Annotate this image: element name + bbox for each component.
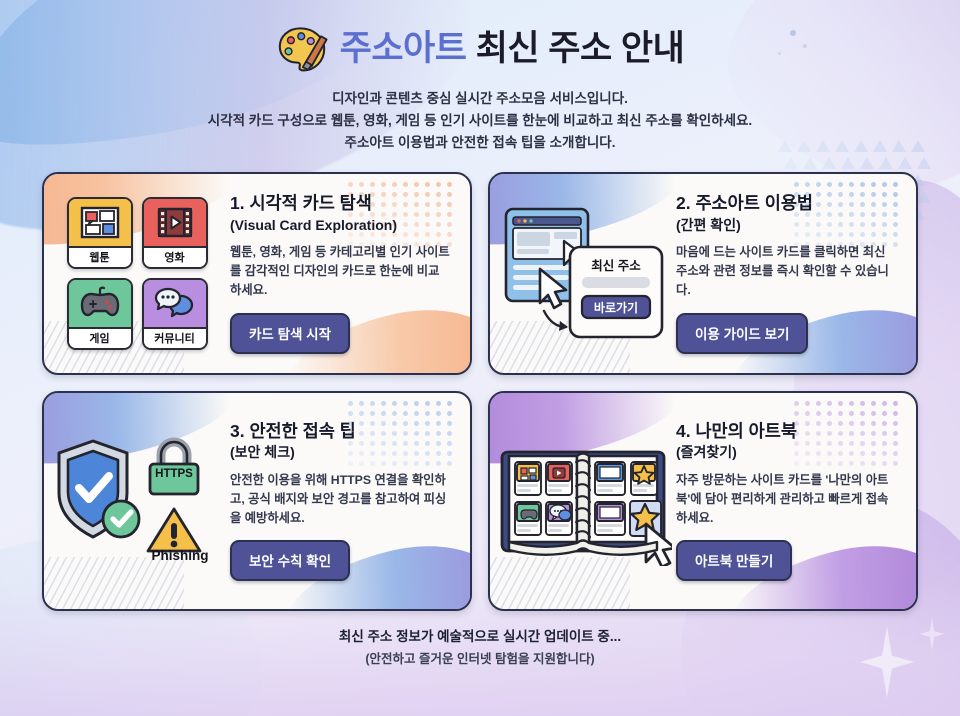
card-body: 4. 나만의 아트북 (즐겨찾기) 자주 방문하는 사이트 카드를 '나만의 아…: [676, 420, 916, 582]
chat-bubbles-icon: [144, 280, 206, 327]
webtoon-panels-icon: [69, 199, 131, 246]
feature-card-security-tips[interactable]: HTTPS Phishing 3. 안전한 접속 팁 (보안 체크) 안전한 이…: [42, 391, 472, 611]
card-action-button-security[interactable]: 보안 수칙 확인: [230, 540, 350, 581]
card-visual-artbook: [490, 436, 676, 566]
card-description: 안전한 이용을 위해 HTTPS 연결을 확인하고, 공식 배지와 보안 경고를…: [230, 471, 450, 528]
feature-card-how-to-use[interactable]: 최신 주소 바로가기 2. 주소아트 이용법 (간편 확인) 마음에 드는 사이…: [488, 172, 918, 375]
film-play-icon: [144, 199, 206, 246]
feature-card-visual-exploration[interactable]: 웹툰: [42, 172, 472, 375]
category-tile-grid: 웹툰: [67, 197, 208, 350]
popup-title: 최신 주소: [576, 255, 656, 274]
card-action-button-artbook[interactable]: 아트북 만들기: [676, 540, 792, 581]
card-description: 마음에 드는 사이트 카드를 클릭하면 최신 주소와 관련 정보를 즉시 확인할…: [676, 243, 896, 300]
card-title: 1. 시각적 카드 탐색: [230, 192, 450, 215]
page-header: 주소아트 최신 주소 안내 디자인과 콘텐츠 중심 실시간 주소모음 서비스입니…: [0, 0, 960, 154]
card-body: 3. 안전한 접속 팁 (보안 체크) 안전한 이용을 위해 HTTPS 연결을…: [230, 420, 470, 582]
category-tile-community[interactable]: 커뮤니티: [142, 278, 208, 350]
card-body: 1. 시각적 카드 탐색 (Visual Card Exploration) 웹…: [230, 192, 470, 354]
card-action-button-guide[interactable]: 이용 가이드 보기: [676, 313, 808, 354]
https-lock-label: HTTPS: [150, 468, 198, 480]
category-tile-webtoon[interactable]: 웹툰: [67, 197, 133, 269]
card-action-button-explore[interactable]: 카드 탐색 시작: [230, 313, 350, 354]
category-tile-label: 커뮤니티: [144, 327, 206, 348]
card-subtitle: (간편 확인): [676, 216, 896, 234]
card-description: 자주 방문하는 사이트 카드를 '나만의 아트북'에 담아 편리하게 관리하고 …: [676, 471, 896, 528]
card-subtitle: (즐겨찾기): [676, 443, 896, 461]
card-visual-security: HTTPS Phishing: [44, 431, 230, 571]
card-subtitle: (Visual Card Exploration): [230, 216, 450, 234]
card-title: 4. 나만의 아트북: [676, 420, 896, 443]
gamepad-icon: [69, 280, 131, 327]
artbook-illustration: [494, 436, 672, 566]
page-footer: 최신 주소 정보가 예술적으로 실시간 업데이트 중... (안전하고 즐거운 …: [0, 625, 960, 667]
card-visual-browser-popup: 최신 주소 바로가기: [490, 203, 676, 343]
page-title: 주소아트 최신 주소 안내: [340, 30, 685, 69]
card-visual-category-tiles: 웹툰: [44, 197, 230, 350]
category-tile-label: 웹툰: [69, 246, 131, 267]
title-row: 주소아트 최신 주소 안내: [0, 26, 960, 72]
feature-card-grid: 웹툰: [42, 172, 918, 611]
card-body: 2. 주소아트 이용법 (간편 확인) 마음에 드는 사이트 카드를 클릭하면 …: [676, 192, 916, 354]
card-description: 웹툰, 영화, 게임 등 카테고리별 인기 사이트를 감각적인 디자인의 카드로…: [230, 243, 450, 300]
subtitle-line-1: 디자인과 콘텐츠 중심 실시간 주소모음 서비스입니다.: [0, 88, 960, 110]
browser-popup-illustration: 최신 주소 바로가기: [498, 203, 668, 343]
feature-card-artbook[interactable]: 4. 나만의 아트북 (즐겨찾기) 자주 방문하는 사이트 카드를 '나만의 아…: [488, 391, 918, 611]
category-tile-label: 게임: [69, 327, 131, 348]
security-illustration: HTTPS Phishing: [49, 431, 225, 571]
subtitle-line-3: 주소아트 이용법과 안전한 접속 팁을 소개합니다.: [0, 132, 960, 154]
phishing-label: Phishing: [137, 548, 223, 563]
card-title: 3. 안전한 접속 팁: [230, 420, 450, 443]
popup-goto-button[interactable]: 바로가기: [576, 299, 656, 316]
footer-status-text: 최신 주소 정보가 예술적으로 실시간 업데이트 중...: [0, 625, 960, 645]
footer-note-text: (안전하고 즐거운 인터넷 탐험을 지원합니다): [0, 648, 960, 667]
category-tile-label: 영화: [144, 246, 206, 267]
palette-icon: [276, 26, 328, 72]
page-title-accent: 주소아트: [340, 29, 467, 68]
page-title-rest: 최신 주소 안내: [476, 29, 685, 68]
card-subtitle: (보안 체크): [230, 443, 450, 461]
category-tile-movie[interactable]: 영화: [142, 197, 208, 269]
subtitle-line-2: 시각적 카드 구성으로 웹툰, 영화, 게임 등 인기 사이트를 한눈에 비교하…: [0, 110, 960, 132]
card-title: 2. 주소아트 이용법: [676, 192, 896, 215]
page-subtitle: 디자인과 콘텐츠 중심 실시간 주소모음 서비스입니다. 시각적 카드 구성으로…: [0, 88, 960, 154]
category-tile-game[interactable]: 게임: [67, 278, 133, 350]
